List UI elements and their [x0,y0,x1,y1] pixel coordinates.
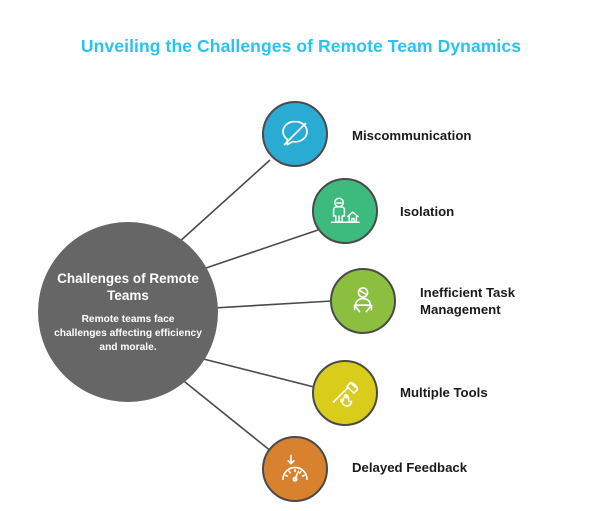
node-label-inefficient-task-management: Inefficient Task Management [420,284,515,319]
hub-title: Challenges of Remote Teams [54,270,202,305]
node-label-miscommunication: Miscommunication [352,127,471,144]
node-label-delayed-feedback: Delayed Feedback [352,459,467,476]
node-miscommunication[interactable] [262,101,328,167]
speech-bubble-slash-icon [276,115,314,153]
central-hub: Challenges of Remote Teams Remote teams … [38,222,218,402]
node-label-multiple-tools: Multiple Tools [400,384,488,401]
hub-description: Remote teams face challenges affecting e… [54,313,202,354]
person-house-icon [326,192,364,230]
node-label-isolation: Isolation [400,203,454,220]
person-inward-arrows-icon [344,282,382,320]
node-inefficient-task-management[interactable] [330,268,396,334]
infographic-canvas: Unveiling the Challenges of Remote Team … [0,0,602,511]
axe-tool-icon [326,374,364,412]
connector-line-4 [180,378,272,452]
connector-line-0 [168,160,270,252]
node-delayed-feedback[interactable] [262,436,328,502]
node-isolation[interactable] [312,178,378,244]
speedometer-down-arrow-icon [276,450,314,488]
node-multiple-tools[interactable] [312,360,378,426]
